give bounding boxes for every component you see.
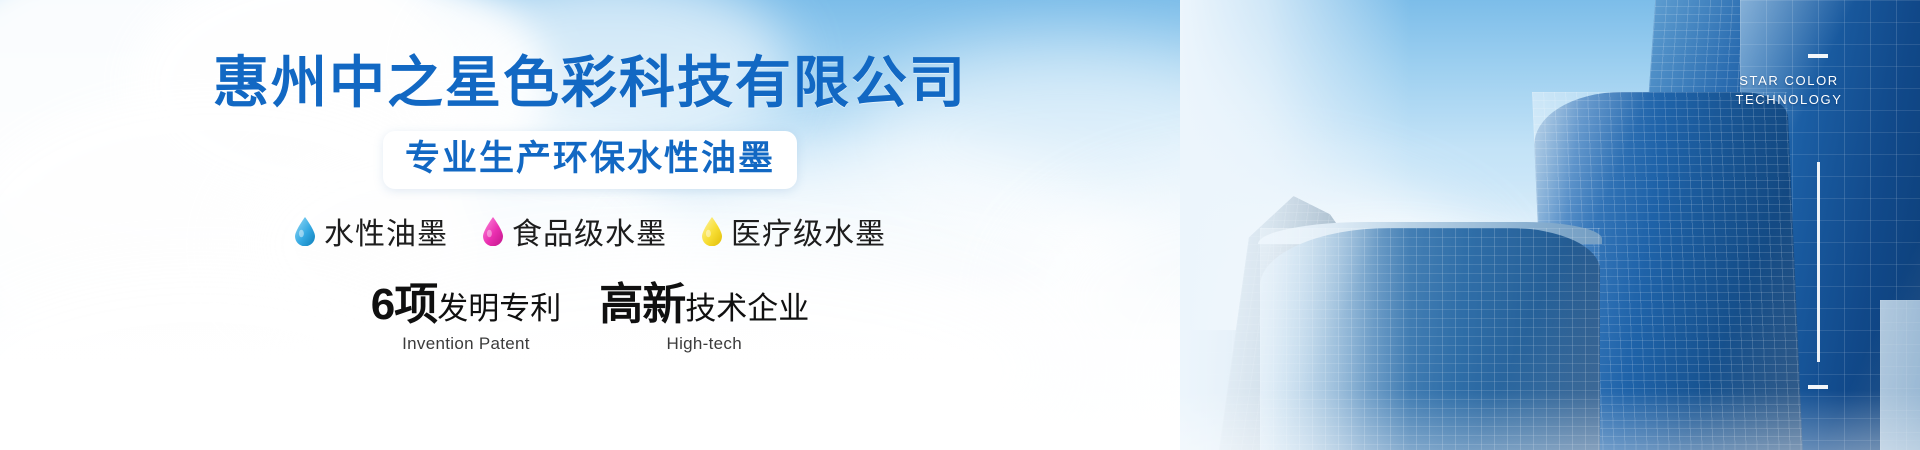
feature-item: 医疗级水墨 — [701, 209, 886, 253]
badge-rest-text: 发明专利 — [437, 291, 561, 326]
glass-mark-line2: TECHNOLOGY — [1714, 91, 1864, 110]
credential-badges: 6项发明专利 Invention Patent 高新技术企业 High-tech — [371, 283, 809, 354]
feature-item: 食品级水墨 — [482, 209, 667, 253]
tagline-pill: 专业生产环保水性油墨 — [383, 131, 797, 190]
badge-strong-text: 6项 — [371, 280, 437, 329]
water-drop-icon — [701, 216, 723, 246]
badge-chinese-line: 6项发明专利 — [371, 283, 561, 327]
glass-mark-dash-top — [1808, 54, 1828, 58]
water-drop-icon — [482, 216, 504, 246]
feature-list: 水性油墨 食品级水墨 — [294, 209, 886, 253]
water-drop-icon — [294, 216, 316, 246]
photo-bottom-fade — [1180, 390, 1920, 450]
badge-english-label: Invention Patent — [402, 334, 530, 354]
skyscraper-photo: STAR COLOR TECHNOLOGY — [1180, 0, 1920, 450]
company-hero-banner: Star Color STAR COLOR TECHNOLOGY 惠州中之星色彩… — [0, 0, 1920, 450]
company-headline: 惠州中之星色彩科技有限公司 — [213, 52, 967, 115]
badge-high-tech: 高新技术企业 High-tech — [599, 283, 809, 354]
banner-content: 惠州中之星色彩科技有限公司 专业生产环保水性油墨 水性油墨 — [0, 0, 1180, 450]
photo-left-fade — [1180, 0, 1410, 450]
glass-mark-dash-bottom — [1808, 385, 1828, 389]
glass-mark-line1: STAR COLOR — [1714, 72, 1864, 91]
feature-label: 水性油墨 — [324, 209, 448, 253]
badge-english-label: High-tech — [667, 334, 742, 354]
feature-item: 水性油墨 — [294, 209, 448, 253]
badge-invention-patent: 6项发明专利 Invention Patent — [371, 283, 561, 354]
badge-rest-text: 技术企业 — [685, 291, 809, 326]
tagline-text: 专业生产环保水性油墨 — [405, 137, 775, 181]
feature-label: 食品级水墨 — [512, 209, 667, 253]
feature-label: 医疗级水墨 — [731, 209, 886, 253]
badge-chinese-line: 高新技术企业 — [599, 283, 809, 327]
glass-brand-mark: STAR COLOR TECHNOLOGY — [1714, 72, 1864, 110]
glass-mark-vertical-line — [1817, 162, 1820, 362]
badge-strong-text: 高新 — [599, 280, 685, 329]
